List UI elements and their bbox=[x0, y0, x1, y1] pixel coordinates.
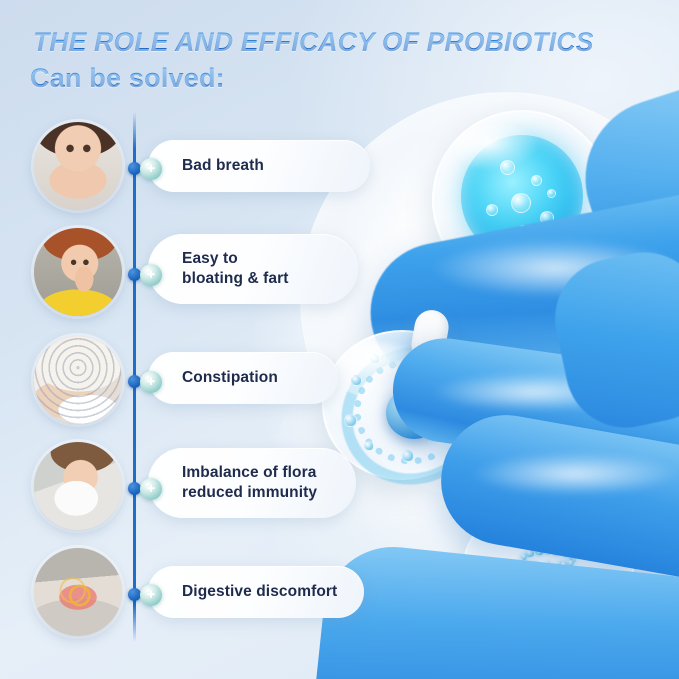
person-on-toilet-photo bbox=[34, 336, 122, 424]
dish-glint bbox=[341, 342, 418, 381]
woman-pinching-nose-photo bbox=[34, 228, 122, 316]
plus-icon bbox=[140, 158, 162, 180]
page-subtitle: Can be solved: bbox=[30, 63, 225, 94]
plus-icon bbox=[140, 584, 162, 606]
bubble bbox=[540, 211, 554, 225]
bubble bbox=[531, 175, 542, 186]
benefit-label: Easy to bloating & fart bbox=[148, 249, 309, 290]
benefit-label: Bad breath bbox=[148, 156, 284, 176]
product-infographic: THE ROLE AND EFFICACY OF PROBIOTICS Can … bbox=[0, 0, 679, 679]
dish-glint bbox=[454, 124, 540, 171]
benefit-label: Constipation bbox=[148, 368, 298, 388]
bubble bbox=[364, 441, 374, 451]
benefit-pill[interactable]: Easy to bloating & fart bbox=[148, 234, 358, 304]
benefit-label: Imbalance of flora reduced immunity bbox=[148, 463, 337, 504]
dish-glint bbox=[483, 508, 566, 547]
benefit-pill[interactable]: Bad breath bbox=[148, 140, 370, 192]
petri-dish-cyan-culture bbox=[432, 110, 612, 290]
benefit-pill[interactable]: Imbalance of flora reduced immunity bbox=[148, 448, 356, 518]
benefit-pill[interactable]: Digestive discomfort bbox=[148, 566, 364, 618]
blue-droplet bbox=[386, 387, 442, 439]
page-title: THE ROLE AND EFFICACY OF PROBIOTICS bbox=[33, 27, 594, 58]
bubble bbox=[402, 450, 414, 462]
petri-dish-dna-helix bbox=[462, 496, 634, 646]
woman-covering-mouth-photo bbox=[34, 122, 122, 210]
plus-icon bbox=[140, 264, 162, 286]
bubble bbox=[486, 204, 498, 216]
benefit-pill[interactable]: Constipation bbox=[148, 352, 338, 404]
plus-icon bbox=[140, 371, 162, 393]
plus-icon bbox=[140, 478, 162, 500]
stomach-ache-photo bbox=[34, 548, 122, 636]
bubble bbox=[511, 193, 531, 213]
petri-dish-bubble-swirl bbox=[322, 330, 482, 480]
woman-blowing-nose-photo bbox=[34, 442, 122, 530]
benefit-label: Digestive discomfort bbox=[148, 582, 357, 602]
